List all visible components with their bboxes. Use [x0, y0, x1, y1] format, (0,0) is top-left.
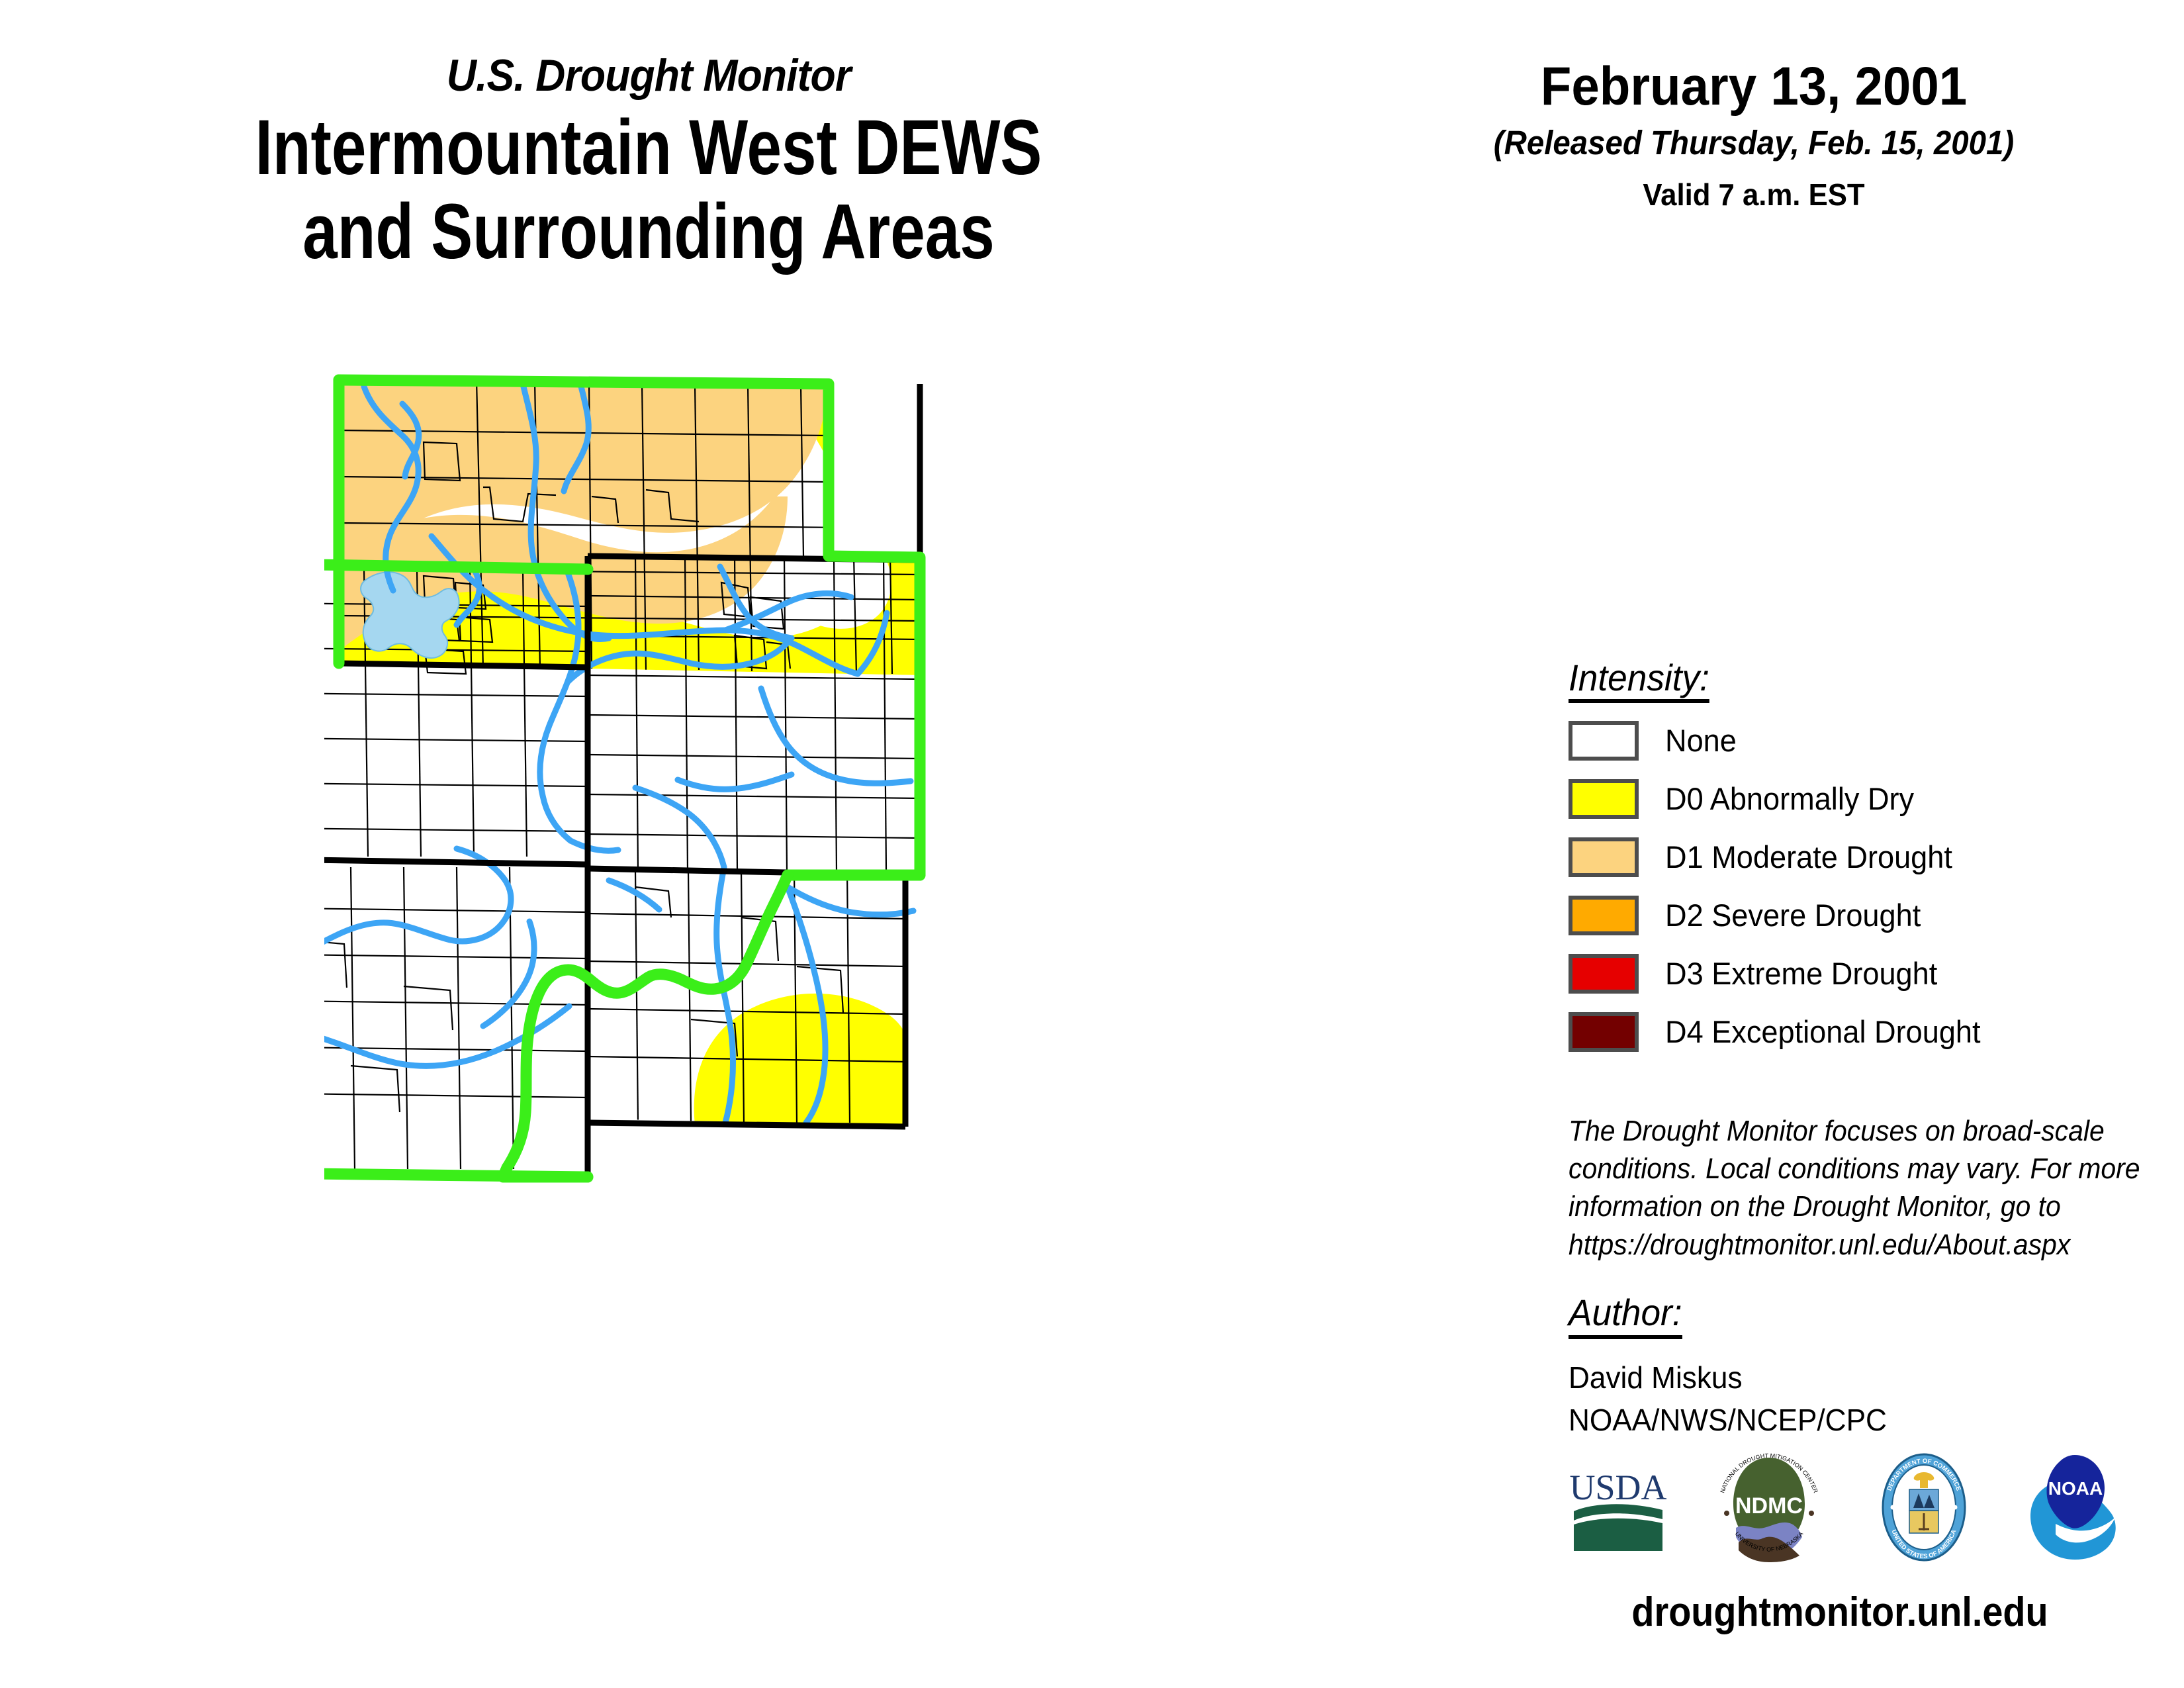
noaa-wordmark: NOAA — [2048, 1478, 2103, 1499]
legend-swatch-d0 — [1569, 779, 1639, 819]
author-affiliation: NOAA/NWS/NCEP/CPC — [1569, 1401, 2089, 1440]
drought-map[interactable] — [324, 357, 1357, 1582]
valid-time: Valid 7 a.m. EST — [1439, 177, 2068, 212]
river-rio-grande-co — [678, 774, 792, 789]
ndmc-logo[interactable]: NDMC NATIONAL DROUGHT MITIGATION CENTER … — [1716, 1450, 1822, 1569]
author-heading: Author: — [1569, 1291, 1682, 1339]
page-title-line-1: Intermountain West DEWS — [130, 106, 1167, 190]
disclaimer-line-2: conditions. Local conditions may vary. F… — [1569, 1150, 2110, 1188]
valid-date: February 13, 2001 — [1446, 58, 2062, 115]
legend-item-d1[interactable]: D1 Moderate Drought — [1569, 837, 2111, 878]
river-gunnison — [635, 788, 724, 867]
dews-boundary-west — [324, 563, 437, 567]
website-url[interactable]: droughtmonitor.unl.edu — [1572, 1589, 2108, 1636]
state-border-nm-south — [588, 1123, 905, 1127]
river-little-colorado — [483, 921, 534, 1026]
state-border-ut-az — [324, 858, 588, 865]
legend-item-d0[interactable]: D0 Abnormally Dry — [1569, 778, 2111, 820]
disclaimer-url[interactable]: https://droughtmonitor.unl.edu/About.asp… — [1569, 1226, 2110, 1264]
disclaimer-line-3: information on the Drought Monitor, go t… — [1569, 1188, 2110, 1225]
river-san-juan — [609, 880, 659, 910]
author-panel: Author: David Miskus NOAA/NWS/NCEP/CPC — [1569, 1291, 2111, 1440]
river-canadian — [788, 887, 913, 915]
dews-boundary-utah-north — [437, 567, 588, 569]
legend-panel: Intensity: None D0 Abnormally Dry D1 Mod… — [1569, 659, 2111, 1053]
legend-label-d4: D4 Exceptional Drought — [1665, 1013, 1981, 1050]
legend-title: Intensity: — [1569, 659, 1709, 703]
legend-label-d3: D3 Extreme Drought — [1665, 955, 1937, 992]
legend-swatch-d4 — [1569, 1012, 1639, 1052]
legend-swatch-d1 — [1569, 837, 1639, 877]
legend-swatch-d3 — [1569, 954, 1639, 994]
legend-label-d2: D2 Severe Drought — [1665, 897, 1921, 933]
legend-swatch-none — [1569, 721, 1639, 761]
legend-label-none: None — [1665, 722, 1737, 759]
title-block: U.S. Drought Monitor Intermountain West … — [0, 53, 1297, 275]
author-name: David Miskus — [1569, 1359, 2089, 1397]
page-title-line-2: and Surrounding Areas — [130, 190, 1167, 274]
dept-commerce-seal[interactable]: DEPARTMENT OF COMMERCE UNITED STATES OF … — [1871, 1450, 1977, 1569]
legend-swatch-d2 — [1569, 896, 1639, 935]
legend-label-d1: D1 Moderate Drought — [1665, 839, 1952, 875]
usda-wordmark: USDA — [1569, 1468, 1666, 1507]
disclaimer-text: The Drought Monitor focuses on broad-sca… — [1569, 1112, 2110, 1264]
noaa-logo[interactable]: NOAA — [2025, 1450, 2124, 1569]
legend-label-d0: D0 Abnormally Dry — [1665, 780, 1914, 817]
date-block: February 13, 2001 (Released Thursday, Fe… — [1423, 58, 2085, 212]
legend-item-d4[interactable]: D4 Exceptional Drought — [1569, 1011, 2111, 1053]
map-svg[interactable] — [324, 357, 1357, 1582]
state-border-montana-south — [339, 663, 588, 667]
disclaimer-line-1: The Drought Monitor focuses on broad-sca… — [1569, 1112, 2110, 1150]
river-colorado-upper — [570, 841, 618, 851]
usda-logo[interactable]: USDA — [1569, 1458, 1668, 1561]
product-subtitle: U.S. Drought Monitor — [52, 53, 1245, 98]
release-date: (Released Thursday, Feb. 15, 2001) — [1446, 123, 2062, 162]
logo-row: USDA NDMC NATIONAL DROUGHT MITIGATION CE… — [1569, 1440, 2124, 1579]
legend-item-none[interactable]: None — [1569, 720, 2111, 761]
legend-item-d2[interactable]: D2 Severe Drought — [1569, 895, 2111, 936]
ndmc-wordmark: NDMC — [1735, 1493, 1803, 1519]
legend-item-d3[interactable]: D3 Extreme Drought — [1569, 953, 2111, 994]
